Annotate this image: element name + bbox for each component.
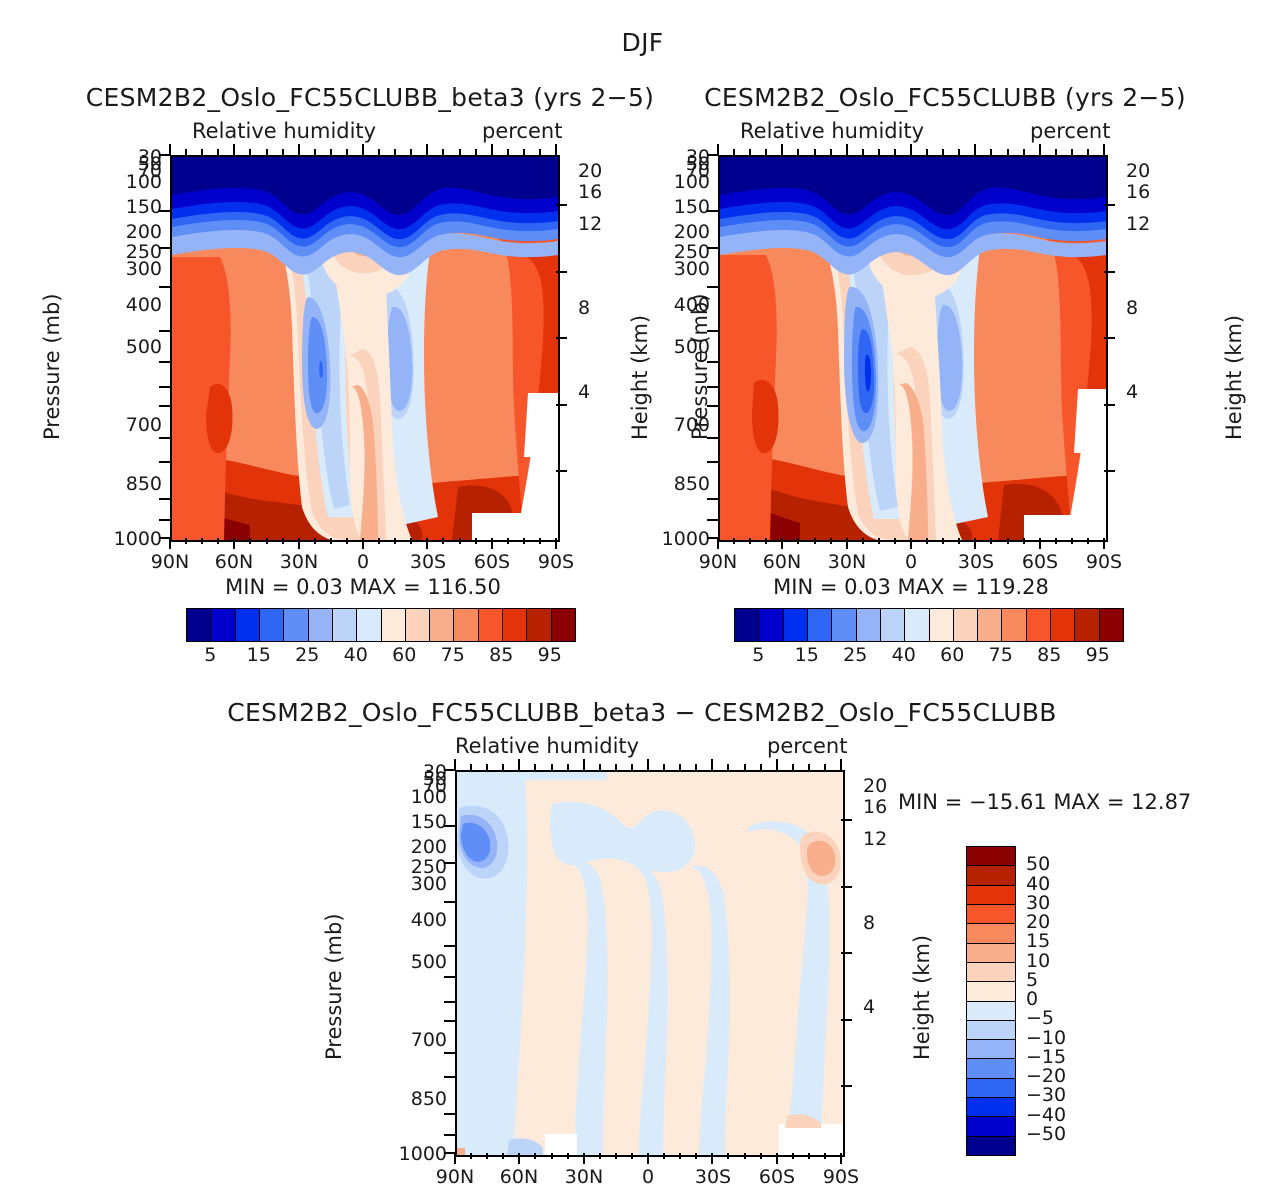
y-tick xyxy=(159,386,170,388)
y2-tick xyxy=(841,819,852,821)
x-tick-minor-top xyxy=(249,149,251,155)
x-tick-minor-top xyxy=(330,149,332,155)
x-tick-major xyxy=(555,538,557,549)
p2-ytick: 850 xyxy=(640,473,710,495)
x-tick-major xyxy=(1103,538,1105,549)
p2-ytick: 1000 xyxy=(626,528,710,550)
colorbar-cell xyxy=(527,609,551,641)
y-tick xyxy=(159,361,170,363)
x-tick-minor xyxy=(894,538,896,544)
p1-xtick: 0 xyxy=(333,551,393,573)
p1-xtick: 60N xyxy=(204,551,264,573)
p1-y2tick: 4 xyxy=(578,381,590,403)
y2-tick xyxy=(841,952,852,954)
x-tick-minor-top xyxy=(1071,149,1073,155)
x-tick-minor-top xyxy=(394,149,396,155)
x-tick-minor-top xyxy=(507,149,509,155)
top-left-minmax: MIN = 0.03 MAX = 116.50 xyxy=(170,575,556,599)
x-tick-minor-top xyxy=(201,149,203,155)
p3-ytick: 400 xyxy=(377,909,447,931)
x-tick-major xyxy=(583,1153,585,1164)
p2-ytick: 500 xyxy=(640,336,710,358)
x-tick-major-top xyxy=(781,144,783,155)
colorbar-cell xyxy=(967,944,1015,963)
x-tick-minor xyxy=(679,1153,681,1159)
y-tick xyxy=(707,498,718,500)
top-left-ylabel: Pressure (mb) xyxy=(40,293,64,440)
x-tick-major xyxy=(298,538,300,549)
x-tick-minor xyxy=(567,1153,569,1159)
y2-tick xyxy=(841,886,852,888)
difference-field xyxy=(457,772,843,1155)
y-tick xyxy=(159,437,170,439)
x-tick-minor-top xyxy=(217,149,219,155)
difference-colorbar[interactable] xyxy=(966,846,1016,1156)
x-tick-minor-top xyxy=(534,764,536,770)
x-tick-major-top xyxy=(169,144,171,155)
y2-tick xyxy=(556,337,567,339)
x-tick-minor xyxy=(534,1153,536,1159)
y-tick xyxy=(159,498,170,500)
colorbar-cell xyxy=(503,609,527,641)
p1-ytick: 500 xyxy=(92,336,162,358)
difference-minmax: MIN = −15.61 MAX = 12.87 xyxy=(898,790,1191,814)
y-tick xyxy=(159,405,170,407)
y-tick xyxy=(444,1052,455,1054)
p2-ytick: 100 xyxy=(640,171,710,193)
x-tick-major xyxy=(169,538,171,549)
p3-xtick: 0 xyxy=(618,1166,678,1188)
x-tick-minor xyxy=(394,538,396,544)
x-tick-minor xyxy=(1023,538,1025,544)
x-tick-minor xyxy=(346,538,348,544)
p2-ytick: 300 xyxy=(640,258,710,280)
x-tick-major xyxy=(840,1153,842,1164)
p3-ytick: 300 xyxy=(377,873,447,895)
y2-tick xyxy=(556,470,567,472)
y-tick xyxy=(444,1020,455,1022)
colorbar-cell xyxy=(284,609,308,641)
p2-xtick: 60S xyxy=(1010,551,1070,573)
top-right-contour-plot xyxy=(718,155,1108,542)
x-tick-major xyxy=(717,538,719,549)
x-tick-minor-top xyxy=(814,149,816,155)
x-tick-minor xyxy=(830,538,832,544)
difference-y2label: Height (km) xyxy=(910,935,934,1060)
x-tick-major-top xyxy=(846,144,848,155)
x-tick-minor-top xyxy=(470,764,472,770)
x-tick-minor xyxy=(599,1153,601,1159)
x-tick-minor-top xyxy=(567,764,569,770)
difference-contour-plot xyxy=(455,770,845,1157)
p1-xtick: 90N xyxy=(140,551,200,573)
y-tick xyxy=(707,519,718,521)
colorbar-cell xyxy=(967,1079,1015,1098)
y2-tick xyxy=(1104,470,1115,472)
colorbar-cell xyxy=(967,905,1015,924)
p3-xtick: 90S xyxy=(811,1166,871,1188)
x-tick-major-top xyxy=(454,759,456,770)
colorbar-cell xyxy=(967,886,1015,905)
x-tick-minor-top xyxy=(679,764,681,770)
y-tick xyxy=(444,1134,455,1136)
x-tick-minor-top xyxy=(733,149,735,155)
x-tick-major-top xyxy=(840,759,842,770)
p3-ytick: 850 xyxy=(377,1088,447,1110)
p2-ytick: 150 xyxy=(640,196,710,218)
x-tick-minor-top xyxy=(266,149,268,155)
top-right-variable-label: Relative humidity xyxy=(740,119,924,143)
p3-y2tick: 16 xyxy=(863,796,887,818)
y-tick xyxy=(444,1001,455,1003)
x-tick-minor xyxy=(824,1153,826,1159)
x-tick-minor xyxy=(502,1153,504,1159)
x-tick-major-top xyxy=(518,759,520,770)
y2-tick xyxy=(1104,404,1115,406)
y-tick xyxy=(707,286,718,288)
y-tick xyxy=(159,210,170,212)
x-tick-minor-top xyxy=(1007,149,1009,155)
p1-ytick: 850 xyxy=(92,473,162,495)
x-tick-minor xyxy=(1087,538,1089,544)
x-tick-minor xyxy=(990,538,992,544)
y2-tick xyxy=(556,404,567,406)
colorbar-cell xyxy=(930,609,954,641)
colorbar-tick-label: 95 xyxy=(520,644,580,666)
p3-ytick: 500 xyxy=(377,951,447,973)
colorbar-cell xyxy=(881,609,905,641)
x-tick-minor xyxy=(797,538,799,544)
x-tick-minor xyxy=(475,538,477,544)
x-tick-minor-top xyxy=(695,764,697,770)
x-tick-minor xyxy=(765,538,767,544)
p3-xtick: 30N xyxy=(554,1166,614,1188)
p2-y2tick: 20 xyxy=(1126,160,1150,182)
x-tick-minor-top xyxy=(990,149,992,155)
colorbar-cell xyxy=(967,1002,1015,1021)
x-tick-minor xyxy=(733,538,735,544)
p1-ytick: 700 xyxy=(92,414,162,436)
x-tick-minor xyxy=(249,538,251,544)
p2-xtick: 30N xyxy=(817,551,877,573)
x-tick-minor-top xyxy=(442,149,444,155)
x-tick-minor xyxy=(1007,538,1009,544)
x-tick-minor-top xyxy=(502,764,504,770)
p3-ytick: 100 xyxy=(377,786,447,808)
y-tick xyxy=(707,437,718,439)
p2-ytick: 700 xyxy=(640,414,710,436)
colorbar-cell xyxy=(967,866,1015,885)
y2-tick xyxy=(1104,204,1115,206)
x-tick-minor-top xyxy=(1055,149,1057,155)
colorbar-cell xyxy=(808,609,832,641)
y-tick xyxy=(444,825,455,827)
x-tick-minor-top xyxy=(615,764,617,770)
top-left-panel-title: CESM2B2_Oslo_FC55CLUBB_beta3 (yrs 2−5) xyxy=(40,83,700,112)
x-tick-minor xyxy=(792,1153,794,1159)
x-tick-minor xyxy=(744,1153,746,1159)
top-right-panel-title: CESM2B2_Oslo_FC55CLUBB (yrs 2−5) xyxy=(615,83,1275,112)
x-tick-major xyxy=(974,538,976,549)
x-tick-major xyxy=(1039,538,1041,549)
p3-ytick: 700 xyxy=(377,1029,447,1051)
p3-y2tick: 12 xyxy=(863,828,887,850)
x-tick-minor xyxy=(539,538,541,544)
p1-ytick: 100 xyxy=(92,171,162,193)
p1-ytick: 150 xyxy=(92,196,162,218)
x-tick-major-top xyxy=(491,144,493,155)
y-tick xyxy=(444,901,455,903)
p1-y2tick: 16 xyxy=(578,181,602,203)
p1-y2tick: 20 xyxy=(578,160,602,182)
x-tick-minor-top xyxy=(282,149,284,155)
x-tick-minor xyxy=(1055,538,1057,544)
p2-y2tick: 16 xyxy=(1126,181,1150,203)
difference-panel-title: CESM2B2_Oslo_FC55CLUBB_beta3 − CESM2B2_O… xyxy=(142,698,1142,727)
x-tick-minor-top xyxy=(475,149,477,155)
p1-ytick: 400 xyxy=(92,294,162,316)
x-tick-minor xyxy=(378,538,380,544)
x-tick-major-top xyxy=(711,759,713,770)
p2-ytick: 400 xyxy=(640,294,710,316)
y-tick xyxy=(159,519,170,521)
x-tick-minor-top xyxy=(808,764,810,770)
y-tick xyxy=(159,247,170,249)
y-tick xyxy=(444,862,455,864)
colorbar-cell xyxy=(333,609,357,641)
colorbar-cell xyxy=(967,1059,1015,1078)
x-tick-major xyxy=(518,1153,520,1164)
x-tick-major xyxy=(846,538,848,549)
x-tick-minor xyxy=(201,538,203,544)
x-tick-minor xyxy=(217,538,219,544)
p3-xtick: 90N xyxy=(425,1166,485,1188)
colorbar-cell xyxy=(967,847,1015,866)
p1-xtick: 60S xyxy=(462,551,522,573)
p3-y2tick: 20 xyxy=(863,775,887,797)
colorbar-cell xyxy=(552,609,575,641)
x-tick-major-top xyxy=(362,144,364,155)
colorbar-cell xyxy=(967,1098,1015,1117)
x-tick-minor xyxy=(760,1153,762,1159)
difference-units-label: percent xyxy=(767,734,847,758)
colorbar-cell xyxy=(967,1021,1015,1040)
x-tick-minor xyxy=(942,538,944,544)
x-tick-minor xyxy=(314,538,316,544)
top-right-y2label: Height (km) xyxy=(1222,315,1246,440)
x-tick-minor xyxy=(695,1153,697,1159)
top-right-units-label: percent xyxy=(1030,119,1110,143)
x-tick-major-top xyxy=(910,144,912,155)
y2-tick xyxy=(841,1019,852,1021)
x-tick-minor-top xyxy=(830,149,832,155)
x-tick-minor-top xyxy=(797,149,799,155)
x-tick-minor xyxy=(523,538,525,544)
p3-xtick: 30S xyxy=(683,1166,743,1188)
x-tick-minor-top xyxy=(894,149,896,155)
colorbar-cell xyxy=(1002,609,1026,641)
x-tick-major-top xyxy=(233,144,235,155)
p2-xtick: 90N xyxy=(688,551,748,573)
y-tick xyxy=(707,461,718,463)
x-tick-minor xyxy=(631,1153,633,1159)
p1-xtick: 30S xyxy=(398,551,458,573)
y-tick xyxy=(707,247,718,249)
x-tick-major-top xyxy=(1103,144,1105,155)
colorbar-cell xyxy=(967,1137,1015,1155)
colorbar-cell xyxy=(430,609,454,641)
colorbar-cell xyxy=(967,924,1015,943)
x-tick-minor-top xyxy=(958,149,960,155)
x-tick-minor xyxy=(814,538,816,544)
x-tick-minor xyxy=(442,538,444,544)
colorbar-cell xyxy=(309,609,333,641)
colorbar-tick-label: 95 xyxy=(1068,644,1128,666)
x-tick-minor xyxy=(615,1153,617,1159)
difference-ylabel: Pressure (mb) xyxy=(322,913,346,1060)
colorbar-cell xyxy=(1051,609,1075,641)
x-tick-minor xyxy=(486,1153,488,1159)
top-left-field xyxy=(172,157,558,540)
y-tick xyxy=(159,286,170,288)
top-left-units-label: percent xyxy=(482,119,562,143)
x-tick-minor xyxy=(749,538,751,544)
p1-ytick: 300 xyxy=(92,258,162,280)
x-tick-minor-top xyxy=(1087,149,1089,155)
y2-tick xyxy=(1104,271,1115,273)
p1-y2tick: 12 xyxy=(578,213,602,235)
x-tick-minor xyxy=(862,538,864,544)
y-tick xyxy=(707,330,718,332)
colorbar-cell xyxy=(236,609,260,641)
top-left-colorbar[interactable] xyxy=(186,608,576,642)
x-tick-minor-top xyxy=(314,149,316,155)
y-tick xyxy=(444,1113,455,1115)
x-tick-minor-top xyxy=(539,149,541,155)
colorbar-tick-label: −50 xyxy=(1026,1123,1066,1145)
x-tick-minor-top xyxy=(599,764,601,770)
x-tick-minor-top xyxy=(631,764,633,770)
colorbar-cell xyxy=(832,609,856,641)
x-tick-minor-top xyxy=(663,764,665,770)
x-tick-major xyxy=(426,538,428,549)
colorbar-cell xyxy=(1027,609,1051,641)
colorbar-cell xyxy=(905,609,929,641)
difference-variable-label: Relative humidity xyxy=(455,734,639,758)
season-title: DJF xyxy=(0,28,1285,57)
p2-y2tick: 8 xyxy=(1126,297,1138,319)
x-tick-minor xyxy=(926,538,928,544)
y-tick xyxy=(707,361,718,363)
p3-xtick: 60S xyxy=(747,1166,807,1188)
x-tick-minor-top xyxy=(878,149,880,155)
x-tick-major xyxy=(454,1153,456,1164)
x-tick-major-top xyxy=(776,759,778,770)
x-tick-major-top xyxy=(298,144,300,155)
top-left-variable-label: Relative humidity xyxy=(192,119,376,143)
x-tick-minor-top xyxy=(765,149,767,155)
colorbar-cell xyxy=(1100,609,1123,641)
x-tick-minor-top xyxy=(744,764,746,770)
colorbar-cell xyxy=(735,609,759,641)
y-tick xyxy=(444,976,455,978)
x-tick-minor xyxy=(808,1153,810,1159)
p3-ytick: 150 xyxy=(377,811,447,833)
x-tick-minor xyxy=(410,538,412,544)
x-tick-minor xyxy=(185,538,187,544)
x-tick-major xyxy=(362,538,364,549)
x-tick-minor xyxy=(1071,538,1073,544)
y-tick xyxy=(707,210,718,212)
p2-xtick: 0 xyxy=(881,551,941,573)
x-tick-minor-top xyxy=(459,149,461,155)
p2-ytick: 200 xyxy=(640,221,710,243)
x-tick-major xyxy=(781,538,783,549)
y-tick xyxy=(159,461,170,463)
x-tick-minor-top xyxy=(1023,149,1025,155)
y-tick xyxy=(707,386,718,388)
x-tick-minor xyxy=(266,538,268,544)
x-tick-minor xyxy=(330,538,332,544)
p2-y2tick: 4 xyxy=(1126,381,1138,403)
y2-tick xyxy=(556,204,567,206)
top-right-minmax: MIN = 0.03 MAX = 119.28 xyxy=(718,575,1104,599)
p1-ytick: 1000 xyxy=(78,528,162,550)
x-tick-minor-top xyxy=(862,149,864,155)
colorbar-cell xyxy=(479,609,503,641)
p3-y2tick: 4 xyxy=(863,996,875,1018)
x-tick-minor xyxy=(663,1153,665,1159)
colorbar-cell xyxy=(406,609,430,641)
x-tick-minor-top xyxy=(185,149,187,155)
y-tick xyxy=(159,330,170,332)
x-tick-major xyxy=(910,538,912,549)
colorbar-cell xyxy=(967,1040,1015,1059)
x-tick-minor-top xyxy=(378,149,380,155)
x-tick-minor-top xyxy=(792,764,794,770)
y2-tick xyxy=(556,271,567,273)
x-tick-major-top xyxy=(583,759,585,770)
colorbar-cell xyxy=(382,609,406,641)
x-tick-major-top xyxy=(717,144,719,155)
x-tick-major xyxy=(711,1153,713,1164)
x-tick-major-top xyxy=(555,144,557,155)
colorbar-cell xyxy=(260,609,284,641)
p1-xtick: 30N xyxy=(269,551,329,573)
colorbar-cell xyxy=(784,609,808,641)
top-right-colorbar[interactable] xyxy=(734,608,1124,642)
y2-tick xyxy=(841,1085,852,1087)
x-tick-minor-top xyxy=(727,764,729,770)
p1-xtick: 90S xyxy=(526,551,586,573)
colorbar-cell xyxy=(759,609,783,641)
x-tick-major-top xyxy=(647,759,649,770)
p2-xtick: 90S xyxy=(1074,551,1134,573)
p1-y2tick: 8 xyxy=(578,297,590,319)
y2-tick xyxy=(1104,337,1115,339)
top-left-contour-plot xyxy=(170,155,560,542)
x-tick-minor-top xyxy=(926,149,928,155)
x-tick-minor-top xyxy=(410,149,412,155)
top-right-field xyxy=(720,157,1106,540)
x-tick-minor xyxy=(958,538,960,544)
p3-xtick: 60N xyxy=(489,1166,549,1188)
x-tick-major-top xyxy=(1039,144,1041,155)
y-tick xyxy=(444,945,455,947)
p3-y2tick: 8 xyxy=(863,912,875,934)
x-tick-minor xyxy=(507,538,509,544)
colorbar-cell xyxy=(967,1117,1015,1136)
